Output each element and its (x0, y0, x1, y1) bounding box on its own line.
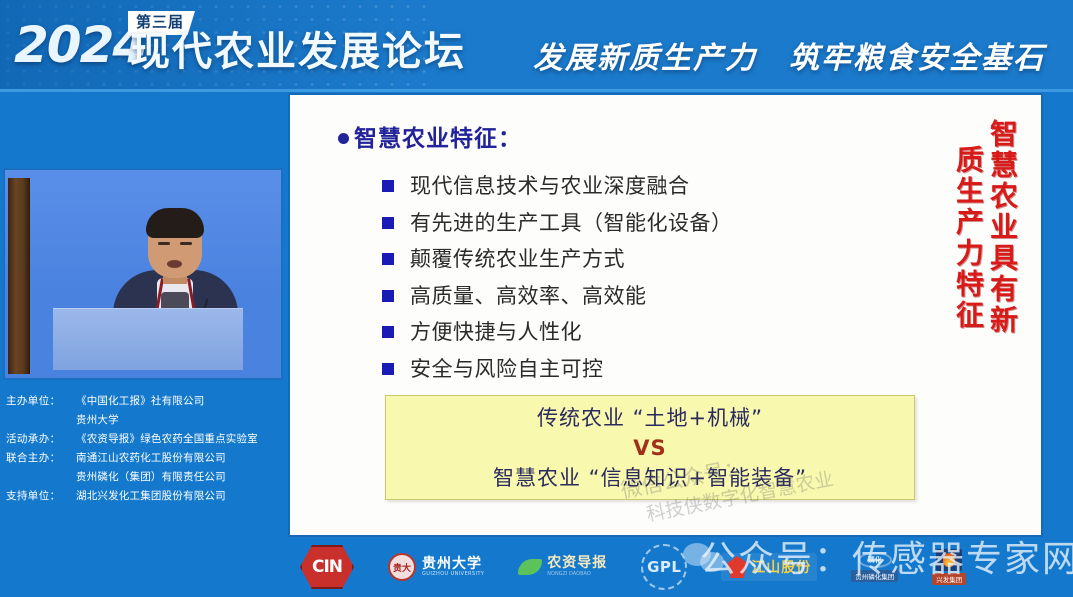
sponsor-value: 贵州大学 (76, 411, 119, 430)
square-bullet-icon (382, 180, 394, 192)
vertical-title-column-left: 质生产力特征 (953, 145, 983, 336)
gpl-logo: GPL (641, 544, 687, 590)
guizhou-university-name: 贵州大学 (422, 557, 484, 571)
jiangshan-logo: 江山股份 (721, 553, 817, 581)
flame-shape (943, 553, 955, 567)
sponsor-credits-list: 主办单位： 《中国化工报》社有限公司 主办单位： 贵州大学 活动承办： 《农资导… (6, 392, 288, 506)
header-slogan: 发展新质生产力 筑牢粮食安全基石 (533, 42, 1045, 76)
square-bullet-icon (382, 326, 394, 338)
jiangshan-shield-icon (727, 556, 747, 578)
comparison-line-traditional: 传统农业 “土地+机械” (537, 403, 763, 433)
guizhou-university-seal-icon: 贵大 (388, 553, 416, 581)
gpl-logo-mark: GPL (641, 544, 687, 590)
list-item: 高质量、高效率、高效能 (382, 282, 942, 310)
sponsor-label: 支持单位： (6, 487, 76, 506)
list-item: 方便快捷与人性化 (382, 318, 942, 346)
slide-heading-text: 智慧农业特征： (354, 126, 522, 152)
leaf-icon (518, 559, 542, 575)
comparison-callout-box: 传统农业 “土地+机械” VS 智慧农业 “信息知识+智能装备” (385, 395, 915, 500)
slide-bullet-list: 现代信息技术与农业深度融合 有先进的生产工具（智能化设备） 颠覆传统农业生产方式… (382, 172, 942, 391)
jiangshan-name: 江山股份 (751, 557, 811, 577)
speaker-mouth (167, 260, 182, 268)
event-header-banner: 2024 第三届 现代农业发展论坛 发展新质生产力 筑牢粮食安全基石 (0, 0, 1073, 92)
guizhou-university-logo: 贵大 贵州大学 GUIZHOU UNIVERSITY (388, 553, 484, 581)
presentation-slide: 智慧农业特征： 现代信息技术与农业深度融合 有先进的生产工具（智能化设备） 颠覆… (288, 93, 1043, 537)
list-item: 安全与风险自主可控 (382, 355, 942, 383)
speaker-podium (53, 308, 243, 370)
speaker-video-feed[interactable] (3, 168, 283, 380)
square-bullet-icon (382, 217, 394, 229)
vertical-red-title: 质生产力特征 智慧农业具有新 (953, 119, 1017, 336)
sponsor-label: 主办单位： (6, 392, 76, 411)
list-item: 现代信息技术与农业深度融合 (382, 172, 942, 200)
stage-pillar (8, 178, 30, 374)
logo-strip: CIN 贵大 贵州大学 GUIZHOU UNIVERSITY 农资导报 NONG… (300, 540, 1060, 594)
sponsor-logo-bar: CIN 贵大 贵州大学 GUIZHOU UNIVERSITY 农资导报 NONG… (0, 537, 1073, 597)
nongzi-daobao-logo: 农资导报 NONGZI DAOBAO (518, 556, 607, 578)
cin-logo-mark: CIN (300, 545, 354, 589)
nongzi-daobao-name: 农资导报 (547, 556, 607, 571)
list-item: 颠覆传统农业生产方式 (382, 245, 942, 273)
sponsor-value: 《中国化工报》社有限公司 (76, 392, 204, 411)
sponsor-row: 联合主办： 贵州磷化（集团）有限责任公司 (6, 468, 288, 487)
sponsor-row: 支持单位： 湖北兴发化工集团股份有限公司 (6, 487, 288, 506)
sponsor-label: 活动承办： (6, 430, 76, 449)
list-item-label: 高质量、高效率、高效能 (410, 282, 647, 310)
guizhou-huahua-logo: 磷化 贵州磷化集团 (851, 552, 898, 582)
sponsor-label: 联合主办： (6, 449, 76, 468)
comparison-vs-label: VS (633, 433, 666, 463)
sponsor-value: 南通江山农药化工股份有限公司 (76, 449, 226, 468)
speaker-hair (146, 208, 204, 238)
guizhou-huahua-ring-icon: 磷化 (858, 552, 892, 568)
list-item: 有先进的生产工具（智能化设备） (382, 209, 942, 237)
square-bullet-icon (382, 290, 394, 302)
screenshot-root: 2024 第三届 现代农业发展论坛 发展新质生产力 筑牢粮食安全基石 主 (0, 0, 1073, 597)
nongzi-daobao-name-en: NONGZI DAOBAO (547, 571, 607, 578)
header-forum-title: 现代农业发展论坛 (130, 30, 466, 74)
sponsor-row: 联合主办： 南通江山农药化工股份有限公司 (6, 449, 288, 468)
comparison-line-smart: 智慧农业 “信息知识+智能装备” (493, 463, 807, 493)
guizhou-huahua-name: 贵州磷化集团 (851, 570, 898, 582)
xingfa-name: 兴发集团 (932, 573, 966, 585)
speaker-eye-left (158, 242, 170, 245)
sponsor-value: 贵州磷化（集团）有限责任公司 (76, 468, 226, 487)
list-item-label: 有先进的生产工具（智能化设备） (410, 209, 733, 237)
list-item-label: 安全与风险自主可控 (410, 355, 604, 383)
xingfa-logo: 兴发集团 (932, 549, 966, 585)
sponsor-value: 湖北兴发化工集团股份有限公司 (76, 487, 226, 506)
vertical-title-column-right: 智慧农业具有新 (987, 119, 1017, 336)
list-item-label: 颠覆传统农业生产方式 (410, 245, 625, 273)
sponsor-row: 活动承办： 《农资导报》绿色农药全国重点实验室 (6, 430, 288, 449)
list-item-label: 现代信息技术与农业深度融合 (410, 172, 690, 200)
slide-heading: 智慧农业特征： (338, 119, 522, 153)
left-panel: 主办单位： 《中国化工报》社有限公司 主办单位： 贵州大学 活动承办： 《农资导… (0, 92, 288, 537)
square-bullet-icon (382, 253, 394, 265)
sponsor-value: 《农资导报》绿色农药全国重点实验室 (76, 430, 258, 449)
xingfa-flame-icon (936, 549, 962, 571)
header-year: 2024 (14, 20, 145, 70)
guizhou-university-name-en: GUIZHOU UNIVERSITY (422, 571, 484, 578)
sponsor-row: 主办单位： 《中国化工报》社有限公司 (6, 392, 288, 411)
bullet-dot-icon (338, 133, 349, 144)
speaker-eye-right (180, 242, 192, 245)
cin-logo: CIN (300, 545, 354, 589)
square-bullet-icon (382, 363, 394, 375)
list-item-label: 方便快捷与人性化 (410, 318, 582, 346)
sponsor-row: 主办单位： 贵州大学 (6, 411, 288, 430)
